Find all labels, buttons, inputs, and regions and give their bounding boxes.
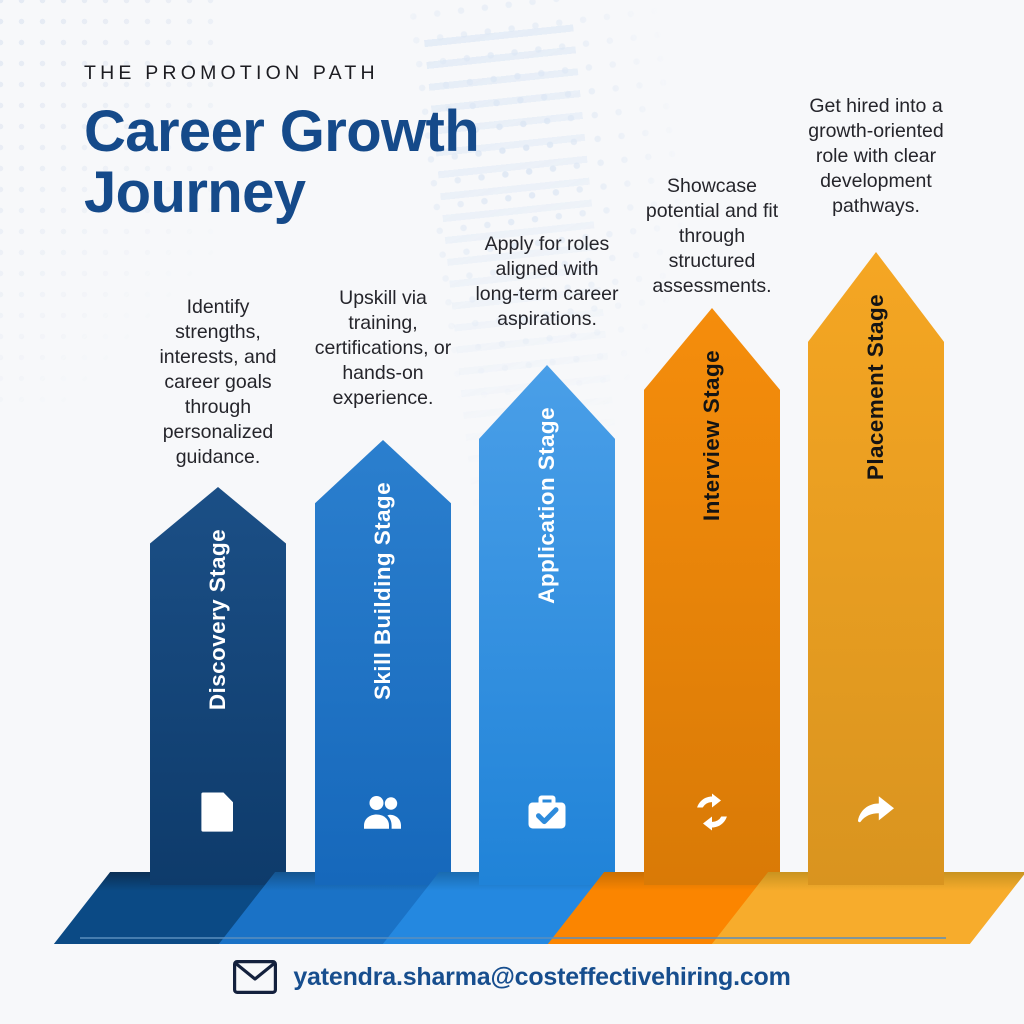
chart-baseline [80,937,946,939]
footer: yatendra.sharma@costeffectivehiring.com [0,960,1024,994]
stage-description-1: Identify strengths, interests, and caree… [143,295,293,470]
stage-label-2: Skill Building Stage [370,482,396,700]
stage-column-3[interactable]: Application StageApply for roles aligned… [479,0,615,1024]
stage-description-5: Get hired into a growth-oriented role wi… [801,94,951,219]
sync-arrows-icon [688,788,736,836]
document-icon [194,788,242,836]
stage-column-4[interactable]: Interview StageShowcase potential and fi… [644,0,780,1024]
kicker-text: THE PROMOTION PATH [84,62,484,85]
header: THE PROMOTION PATH Career Growth Journey [84,62,484,224]
stage-label-5: Placement Stage [863,294,889,480]
stage-label-3: Application Stage [534,407,560,604]
page-title: Career Growth Journey [84,101,484,224]
curved-arrow-icon [852,788,900,836]
people-icon [359,788,407,836]
envelope-icon [233,960,277,994]
stage-description-2: Upskill via training, certifications, or… [308,286,458,411]
stage-description-4: Showcase potential and fit through struc… [637,174,787,299]
stage-label-4: Interview Stage [699,350,725,521]
footer-email-text: yatendra.sharma@costeffectivehiring.com [293,963,790,992]
stage-description-3: Apply for roles aligned with long-term c… [472,232,622,332]
stage-column-5[interactable]: Placement StageGet hired into a growth-o… [808,0,944,1024]
stage-label-1: Discovery Stage [205,529,231,710]
briefcase-check-icon [523,788,571,836]
